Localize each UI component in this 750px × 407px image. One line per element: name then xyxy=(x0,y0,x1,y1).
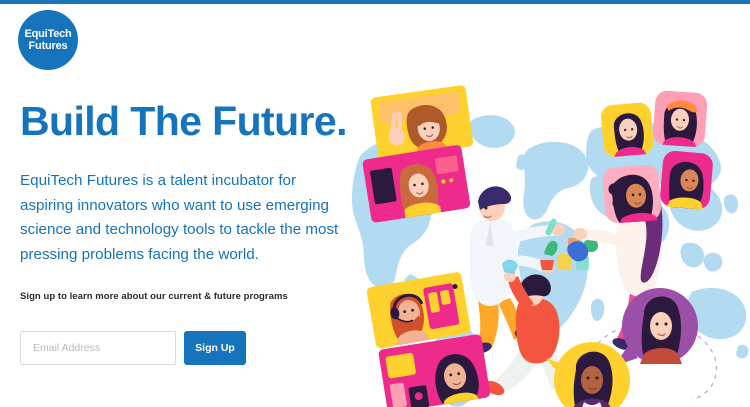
equitech-futures-logo[interactable]: EquiTech Futures xyxy=(18,10,78,70)
hero-subcopy: EquiTech Futures is a talent incubator f… xyxy=(20,169,350,268)
sign-up-button[interactable]: Sign Up xyxy=(184,331,246,365)
page-title: Build The Future. xyxy=(20,100,360,143)
signup-form: Sign Up xyxy=(20,331,246,365)
video-tile-pink-curly xyxy=(602,164,662,224)
landing-page: EquiTech Futures Build The Future. EquiT… xyxy=(0,0,750,407)
logo-line-1: EquiTech xyxy=(24,28,71,40)
avatar-bubble-yellow xyxy=(546,342,630,407)
video-tile-pink-headband xyxy=(652,90,708,147)
video-tile-magenta-portrait xyxy=(659,150,714,210)
global-community-illustration xyxy=(352,78,750,407)
top-accent-bar xyxy=(0,0,750,4)
avatar-bubble-purple xyxy=(614,288,698,366)
video-tile-yellow-bob xyxy=(600,102,654,158)
signup-label: Sign up to learn more about our current … xyxy=(20,291,288,302)
hero-text-column: Build The Future. EquiTech Futures is a … xyxy=(20,100,360,268)
logo-line-2: Futures xyxy=(29,40,68,52)
email-field[interactable] xyxy=(20,331,176,365)
